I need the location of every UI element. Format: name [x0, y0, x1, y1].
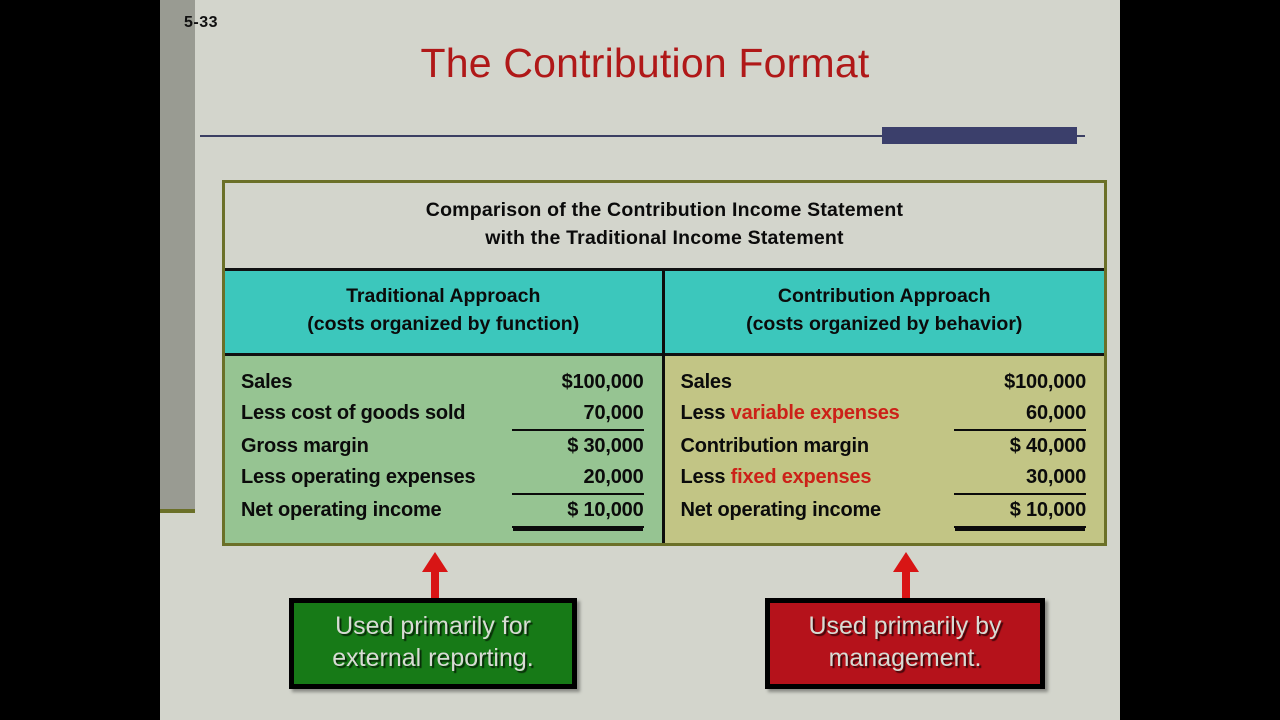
row-label-prefix: Less: [681, 466, 731, 488]
row-amount: 20,000: [512, 463, 644, 495]
row-amount: $100,000: [512, 368, 644, 398]
table-columns: Traditional Approach (costs organized by…: [225, 271, 1104, 542]
arrow-shaft: [902, 568, 910, 600]
row-label: Sales: [681, 368, 732, 397]
comparison-table: Comparison of the Contribution Income St…: [222, 180, 1107, 546]
table-row: Net operating income $ 10,000: [681, 496, 1087, 528]
arrow-shaft: [431, 568, 439, 600]
row-label-prefix: Net operating income: [681, 499, 881, 521]
up-arrow-icon-external-reporting: [422, 552, 448, 600]
table-row: Sales $100,000: [241, 368, 644, 398]
column-body-contribution: Sales $100,000 Less variable expenses 60…: [665, 356, 1105, 543]
row-label-highlight: variable expenses: [731, 402, 900, 424]
table-column-traditional: Traditional Approach (costs organized by…: [225, 271, 665, 542]
table-row: Less operating expenses 20,000: [241, 463, 644, 495]
table-row: Net operating income $ 10,000: [241, 496, 644, 528]
row-label: Less operating expenses: [241, 463, 475, 492]
column-subtitle-traditional: (costs organized by function): [231, 311, 656, 339]
callout-external-reporting: Used primarily for external reporting.: [289, 598, 577, 689]
callout-management: Used primarily by management.: [765, 598, 1045, 689]
callout-line-2: external reporting.: [308, 643, 558, 675]
column-header-contribution: Contribution Approach (costs organized b…: [665, 271, 1105, 355]
table-caption-line-1: Comparison of the Contribution Income St…: [235, 197, 1094, 225]
slide-decorative-sidebar: [160, 0, 195, 513]
table-caption: Comparison of the Contribution Income St…: [225, 183, 1104, 271]
row-label: Sales: [241, 368, 292, 397]
column-subtitle-contribution: (costs organized by behavior): [671, 311, 1099, 339]
row-amount: 30,000: [954, 463, 1086, 495]
row-label: Less variable expenses: [681, 399, 900, 428]
up-arrow-icon-management: [893, 552, 919, 600]
table-row: Less cost of goods sold 70,000: [241, 399, 644, 431]
column-title-contribution: Contribution Approach: [778, 285, 991, 307]
table-row: Sales $100,000: [681, 368, 1087, 398]
row-label: Contribution margin: [681, 432, 869, 461]
callout-line-1: Used primarily for: [308, 611, 558, 643]
row-amount: $ 10,000: [954, 496, 1086, 528]
table-row: Contribution margin $ 40,000: [681, 432, 1087, 462]
row-label-prefix: Contribution margin: [681, 435, 869, 457]
row-amount: 60,000: [954, 399, 1086, 431]
row-label: Less cost of goods sold: [241, 399, 465, 428]
row-amount: 70,000: [512, 399, 644, 431]
row-amount: $ 30,000: [512, 432, 644, 462]
row-label: Net operating income: [241, 496, 441, 525]
column-body-traditional: Sales $100,000 Less cost of goods sold 7…: [225, 356, 662, 543]
callout-line-1: Used primarily by: [784, 611, 1026, 643]
page-title: The Contribution Format: [205, 40, 1085, 87]
title-accent-block: [882, 127, 1077, 144]
table-column-contribution: Contribution Approach (costs organized b…: [665, 271, 1105, 542]
column-title-traditional: Traditional Approach: [346, 285, 540, 307]
row-label-highlight: fixed expenses: [731, 466, 872, 488]
slide-number: 5-33: [184, 14, 218, 32]
row-label: Net operating income: [681, 496, 881, 525]
table-row: Less fixed expenses 30,000: [681, 463, 1087, 495]
row-amount: $ 40,000: [954, 432, 1086, 462]
presentation-slide: 5-33 The Contribution Format Comparison …: [160, 0, 1120, 720]
callout-line-2: management.: [784, 643, 1026, 675]
row-amount: $100,000: [954, 368, 1086, 398]
row-amount: $ 10,000: [512, 496, 644, 528]
row-label: Less fixed expenses: [681, 463, 872, 492]
row-label: Gross margin: [241, 432, 369, 461]
row-label-prefix: Sales: [681, 371, 732, 393]
table-row: Gross margin $ 30,000: [241, 432, 644, 462]
table-row: Less variable expenses 60,000: [681, 399, 1087, 431]
table-caption-line-2: with the Traditional Income Statement: [235, 225, 1094, 253]
row-label-prefix: Less: [681, 402, 731, 424]
column-header-traditional: Traditional Approach (costs organized by…: [225, 271, 662, 355]
